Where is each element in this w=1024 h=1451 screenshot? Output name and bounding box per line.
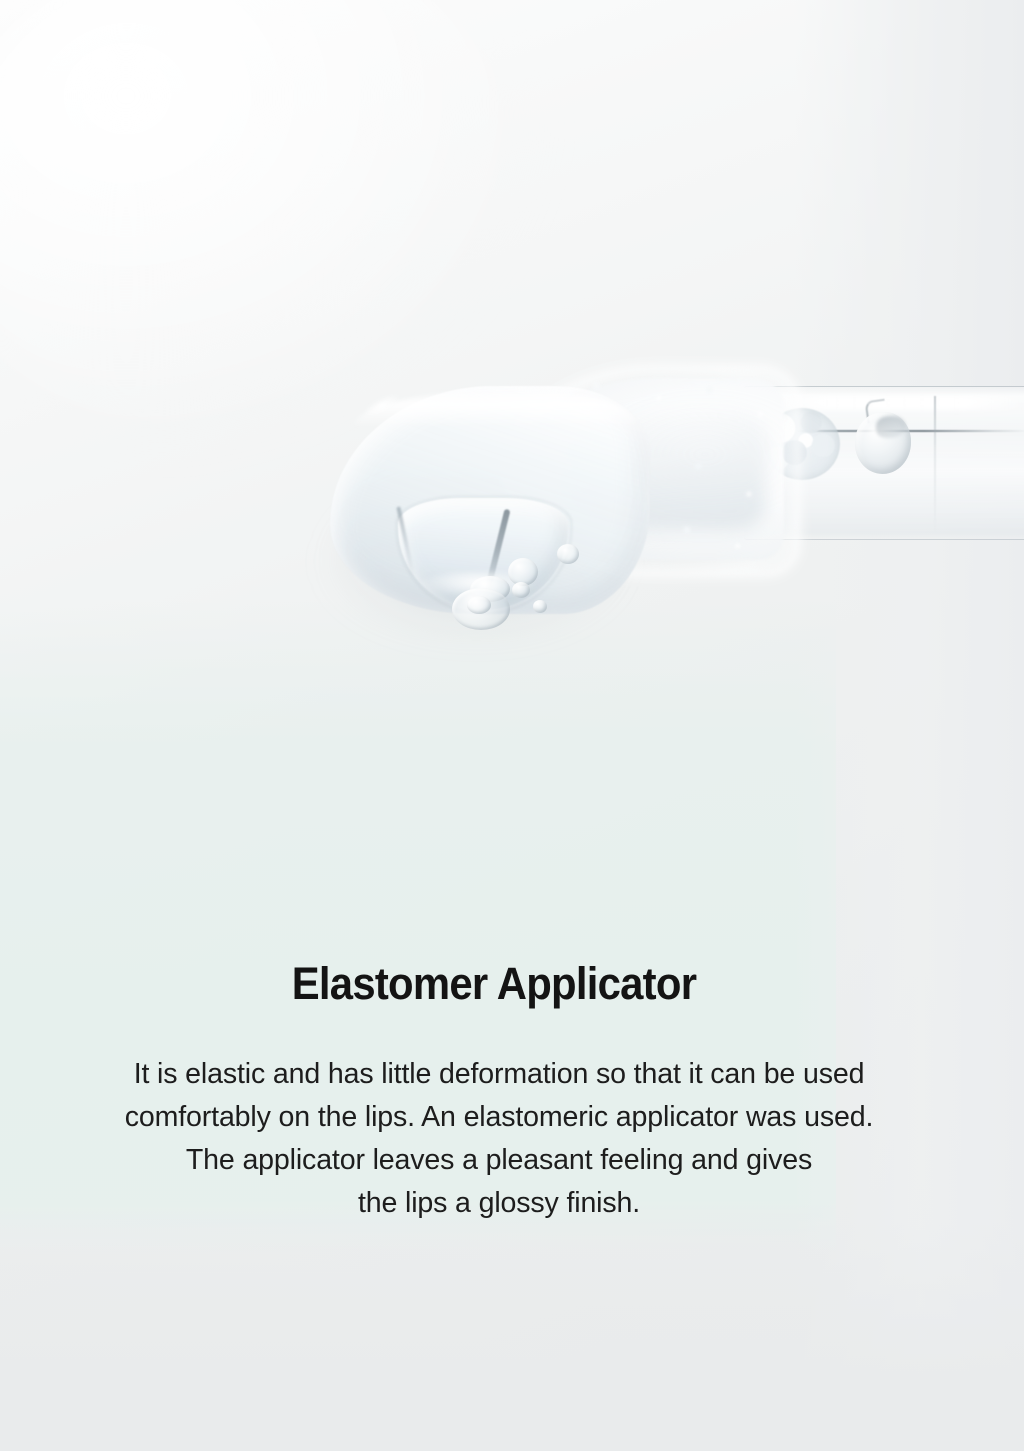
stem-seam-line [934,396,936,532]
lip-gloss-applicator-photo [0,300,1024,780]
description-line: comfortably on the lips. An elastomeric … [0,1096,1003,1139]
air-bubble [467,596,491,614]
description-line: the lips a glossy finish. [0,1182,1003,1225]
product-feature-page: Elastomer Applicator It is elastic and h… [0,0,1024,1451]
description-line: The applicator leaves a pleasant feeling… [0,1139,1003,1182]
air-bubble [512,582,530,598]
feature-description: It is elastic and has little deformation… [0,1007,1003,1225]
description-line: It is elastic and has little deformation… [0,1053,1003,1096]
background-bottom-fade [0,1221,1024,1451]
air-bubble [533,600,547,613]
feature-text-block: Elastomer Applicator It is elastic and h… [0,960,1024,1225]
page-title: Elastomer Applicator [18,960,970,1007]
air-bubble [557,544,579,564]
